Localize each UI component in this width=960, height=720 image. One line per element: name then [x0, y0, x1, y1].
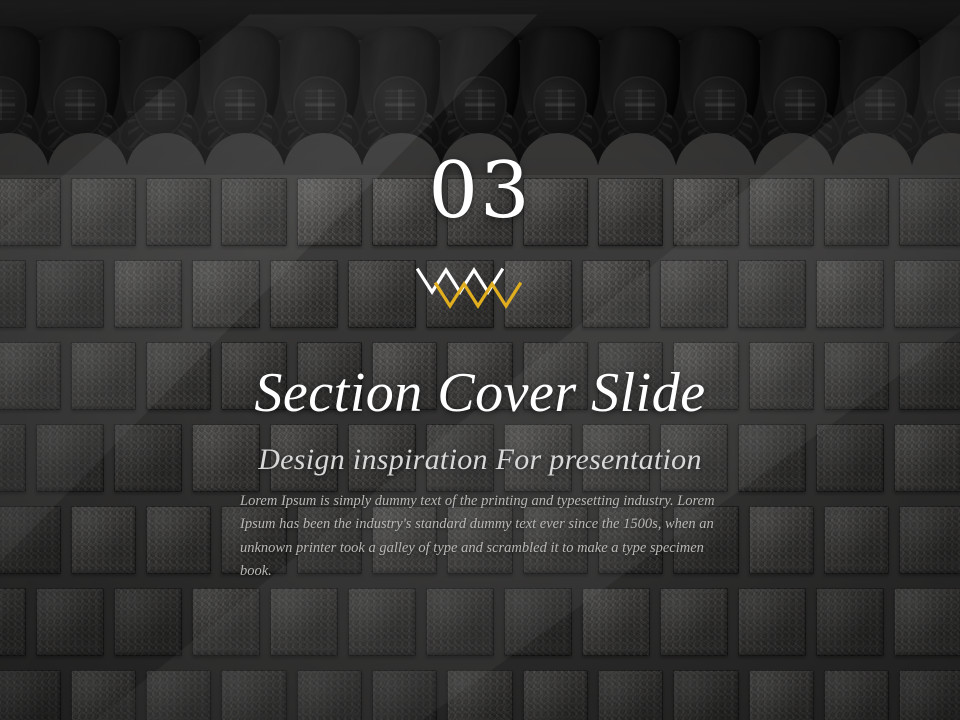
section-number: 03 [0, 152, 960, 230]
slide-content: 03 Section Cover Slide Design inspiratio… [0, 0, 960, 720]
zigzag-gold-stroke [436, 284, 520, 306]
page-title: Section Cover Slide [0, 363, 960, 425]
slide-body-text: Lorem Ipsum is simply dummy text of the … [240, 490, 720, 584]
section-cover-slide: 03 Section Cover Slide Design inspiratio… [0, 0, 960, 720]
slide-subtitle: Design inspiration For presentation [0, 443, 960, 478]
zigzag-divider [416, 258, 544, 310]
zigzag-divider-svg [416, 258, 544, 310]
